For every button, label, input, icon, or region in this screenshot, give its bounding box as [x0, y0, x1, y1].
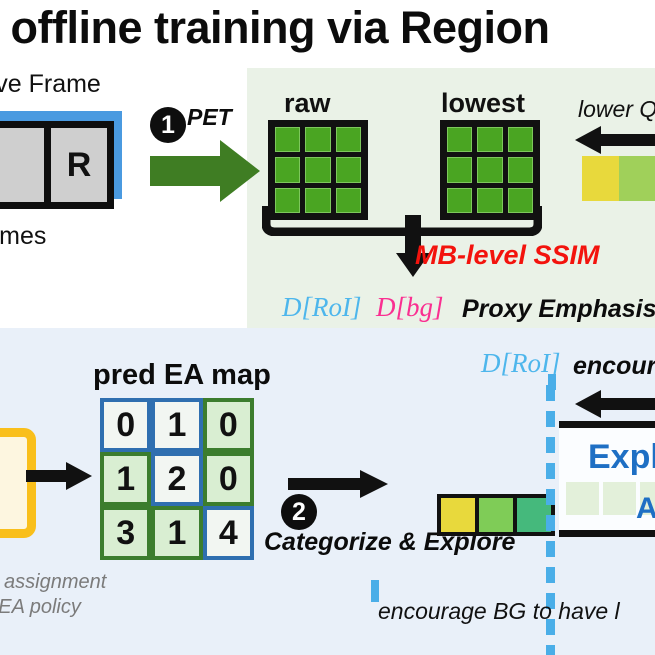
- ea-cell: 1: [151, 506, 202, 560]
- explore-title: Expl: [588, 438, 655, 477]
- proxy-emphasis-label: Proxy Emphasis: [462, 295, 655, 324]
- mb-cell: [508, 127, 533, 152]
- raw-mb-grid: [268, 120, 368, 220]
- mb-cell: [305, 157, 330, 182]
- pred-ea-map-label: pred EA map: [93, 359, 271, 392]
- explore-box-bottom-line: [559, 530, 655, 537]
- encourage-label: encour: [573, 352, 655, 381]
- emphasis-bar-cell: [441, 498, 475, 532]
- frame-letter: R: [51, 128, 107, 202]
- dashed-line-tick-top: [548, 374, 556, 390]
- policy-to-map-arrow: [26, 462, 92, 490]
- ea-cell: 3: [100, 506, 151, 560]
- quality-bar-cell: [582, 156, 619, 201]
- mb-cell: [447, 157, 472, 182]
- raw-label: raw: [284, 88, 331, 119]
- faded-cell: [603, 482, 636, 515]
- mb-cell: [447, 127, 472, 152]
- step-1-badge: 1: [150, 107, 186, 143]
- emphasis-bar: [437, 494, 555, 536]
- gray-note-line-1: sis assignment: [0, 571, 106, 594]
- explore-left-arrow: [575, 390, 655, 418]
- frame-representative: R: [44, 121, 114, 209]
- d-bg-label: D[bg]: [376, 292, 444, 323]
- pet-green-arrow: [150, 140, 260, 202]
- lower-q-left-arrow: [575, 126, 655, 154]
- mb-level-ssim-label: MB-level SSIM: [415, 240, 600, 271]
- figure-canvas: ) offline training via Region ntative Fr…: [0, 0, 655, 655]
- ea-cell: 0: [203, 398, 254, 452]
- ea-cell: 1: [151, 398, 202, 452]
- faded-cell: [566, 482, 599, 515]
- ea-cell: 2: [151, 452, 202, 506]
- ea-cell: 4: [203, 506, 254, 560]
- representative-frame-label: ntative Frame: [0, 70, 101, 99]
- emphasis-bar-cell: [479, 498, 513, 532]
- pred-ea-map-grid: 0 1 0 1 2 0 3 1 4: [100, 398, 254, 560]
- ea-cell: 1: [100, 452, 151, 506]
- lowest-mb-grid: [440, 120, 540, 220]
- mb-cell: [477, 127, 502, 152]
- mb-cell: [275, 127, 300, 152]
- mb-cell: [336, 127, 361, 152]
- ea-cell: 0: [100, 398, 151, 452]
- pet-label: PET: [187, 104, 232, 131]
- d-roi-label: D[RoI]: [282, 292, 362, 323]
- ea-cell: 0: [203, 452, 254, 506]
- quality-bar-cell: [619, 156, 655, 201]
- step-2-badge: 2: [281, 494, 317, 530]
- frames-label: frames: [0, 222, 46, 251]
- mb-cell: [305, 127, 330, 152]
- frame-stack: R: [0, 115, 140, 225]
- lower-q-label: lower Q: [578, 96, 655, 123]
- gray-note-line-2: nt EA policy: [0, 596, 81, 619]
- mb-cell: [275, 157, 300, 182]
- explore-subtitle: A: [636, 492, 655, 526]
- mb-cell: [508, 157, 533, 182]
- quality-bar-top: [582, 156, 655, 201]
- mb-cell: [477, 157, 502, 182]
- mb-cell: [336, 157, 361, 182]
- figure-title: ) offline training via Region: [0, 2, 655, 64]
- encourage-bg-note: encourage BG to have l: [378, 598, 620, 625]
- explore-box-top-line: [559, 421, 655, 428]
- lowest-label: lowest: [441, 88, 525, 119]
